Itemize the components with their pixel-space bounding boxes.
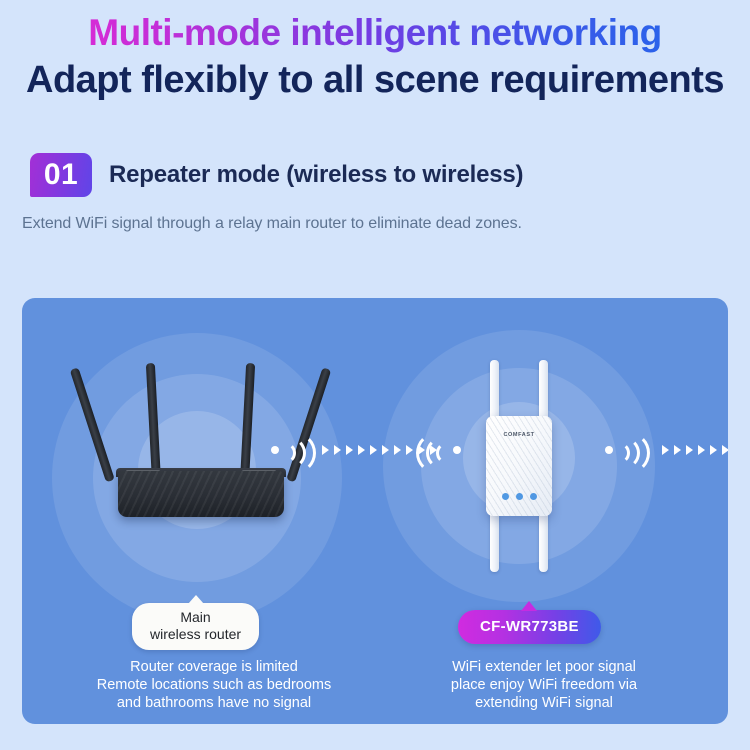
extender-caption-line-3: extending WiFi signal bbox=[394, 694, 694, 712]
router-label-line-2: wireless router bbox=[150, 626, 241, 642]
section-subtitle: Extend WiFi signal through a relay main … bbox=[22, 215, 750, 233]
router-caption-line-1: Router coverage is limited bbox=[64, 658, 364, 676]
extender-caption: WiFi extender let poor signal place enjo… bbox=[394, 658, 694, 712]
router-label-line-1: Main bbox=[180, 609, 210, 625]
section-header: 01 Repeater mode (wireless to wireless) bbox=[30, 153, 750, 197]
chevron-trail-icon-extender-outward bbox=[662, 440, 728, 460]
extender-led-group bbox=[486, 493, 552, 500]
extender-caption-line-1: WiFi extender let poor signal bbox=[394, 658, 694, 676]
extender-model-label: CF-WR773BE bbox=[458, 610, 601, 644]
headline-line-1: Multi-mode intelligent networking bbox=[88, 10, 661, 56]
repeater-mode-diagram-panel: COMFAST bbox=[22, 298, 728, 724]
diagram-scene: COMFAST bbox=[22, 298, 728, 724]
extender-body: COMFAST bbox=[486, 416, 552, 516]
wifi-arc-3 bbox=[274, 432, 316, 474]
wifi-waves-right-icon-extender-out bbox=[604, 430, 646, 470]
wps-led-icon bbox=[516, 493, 523, 500]
wifi-waves-left-icon bbox=[420, 430, 462, 470]
router-caption-line-2: Remote locations such as bedrooms bbox=[64, 676, 364, 694]
wifi-led-icon bbox=[530, 493, 537, 500]
router-caption: Router coverage is limited Remote locati… bbox=[64, 658, 364, 712]
headline-block: Multi-mode intelligent networking Adapt … bbox=[0, 0, 750, 103]
wifi-arc-3 bbox=[416, 432, 458, 474]
wifi-extender-illustration: COMFAST bbox=[478, 360, 560, 572]
power-led-icon bbox=[502, 493, 509, 500]
headline-line-2: Adapt flexibly to all scene requirements bbox=[0, 57, 750, 103]
section-title: Repeater mode (wireless to wireless) bbox=[109, 161, 523, 189]
wifi-waves-right-icon bbox=[270, 430, 312, 470]
extender-caption-line-2: place enjoy WiFi freedom via bbox=[394, 676, 694, 694]
router-body bbox=[118, 471, 284, 517]
router-caption-line-3: and bathrooms have no signal bbox=[64, 694, 364, 712]
extender-brand-logo: COMFAST bbox=[486, 432, 552, 438]
wifi-arc-3 bbox=[608, 432, 650, 474]
step-number-badge: 01 bbox=[30, 153, 92, 197]
router-name-label: Main wireless router bbox=[132, 603, 259, 650]
